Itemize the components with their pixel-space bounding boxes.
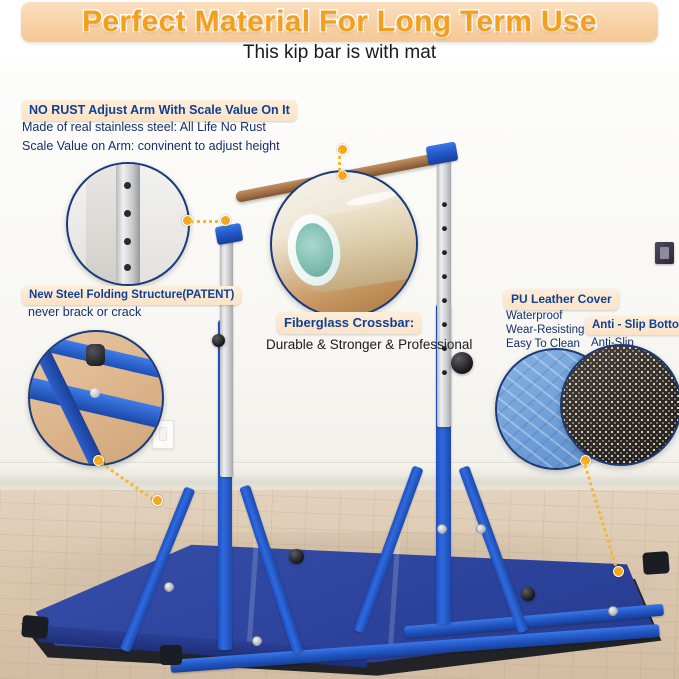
scale-hole-5 [442,298,447,303]
callout-line-fiberglass-1: Durable & Stronger & Professional [266,337,472,352]
bolt-right-2 [476,524,486,534]
inset-arm-hole-1 [124,182,131,189]
inset-folding-joint [28,330,164,466]
inset-crossbar-core [270,170,418,318]
banner-title: Perfect Material For Long Term Use [21,2,658,42]
knob-left-brace [289,549,304,564]
mat-corner-left [21,615,49,639]
scale-hole-3 [442,250,447,255]
adjust-arm-left [220,237,233,477]
connector-dot-fold-b [152,495,163,506]
bolt-left-1 [164,582,174,592]
callout-label-no-rust-arm: NO RUST Adjust Arm With Scale Value On I… [22,100,297,121]
header-banner: Perfect Material For Long Term Use [21,2,658,42]
inset-arm-hole-3 [124,238,131,245]
infographic-canvas: Perfect Material For Long Term Use This … [0,0,679,679]
callout-label-anti-slip: Anti - Slip Bottom [585,316,679,335]
wall-fixture [655,242,674,264]
scale-hole-4 [442,274,447,279]
header-subtitle: This kip bar is with mat [0,42,679,64]
height-adjust-knob[interactable] [451,352,473,374]
base-foot-left [160,645,182,665]
callout-line-no-rust-2: Scale Value on Arm: convinent to adjust … [22,139,280,153]
callout-line-no-rust-1: Made of real stainless steel: All Life N… [22,120,266,134]
mat-corner-right [642,551,669,575]
knob-right-brace [521,587,535,601]
inset-arm-bg-panel [86,162,116,286]
connector-dot-mat-b [613,566,624,577]
inset-anti-slip [560,344,679,466]
callout-label-pu-leather: PU Leather Cover [504,289,619,310]
callout-line-pu-1: Waterproof [506,310,562,322]
bolt-right-1 [437,524,447,534]
inset-joint-bolt [90,388,100,398]
callout-line-steel-folding-1: never brack or crack [28,305,141,319]
inset-joint-bar-b [28,376,164,434]
connector-dot-bar-b [337,170,348,181]
callout-line-pu-3: Easy To Clean [506,338,580,350]
connector-dot-arm-b [220,215,231,226]
scale-hole-8 [442,370,447,375]
inset-arm-hole-2 [124,210,131,217]
inset-arm-hole-4 [124,264,131,271]
inset-joint-knob [86,344,105,366]
scale-hole-1 [442,202,447,207]
bolt-right-3 [608,606,618,616]
knob-left-upright [212,334,225,347]
adjust-arm-right [437,157,451,427]
callout-line-pu-2: Wear-Resisting [506,324,584,336]
scale-hole-2 [442,226,447,231]
connector-line-arm [190,220,224,223]
inset-steel-arm [66,162,190,286]
callout-label-fiberglass-crossbar: Fiberglass Crossbar: [277,312,421,334]
callout-label-steel-folding: New Steel Folding Structure(PATENT) [22,286,241,305]
bolt-left-2 [252,636,262,646]
scale-hole-6 [442,322,447,327]
